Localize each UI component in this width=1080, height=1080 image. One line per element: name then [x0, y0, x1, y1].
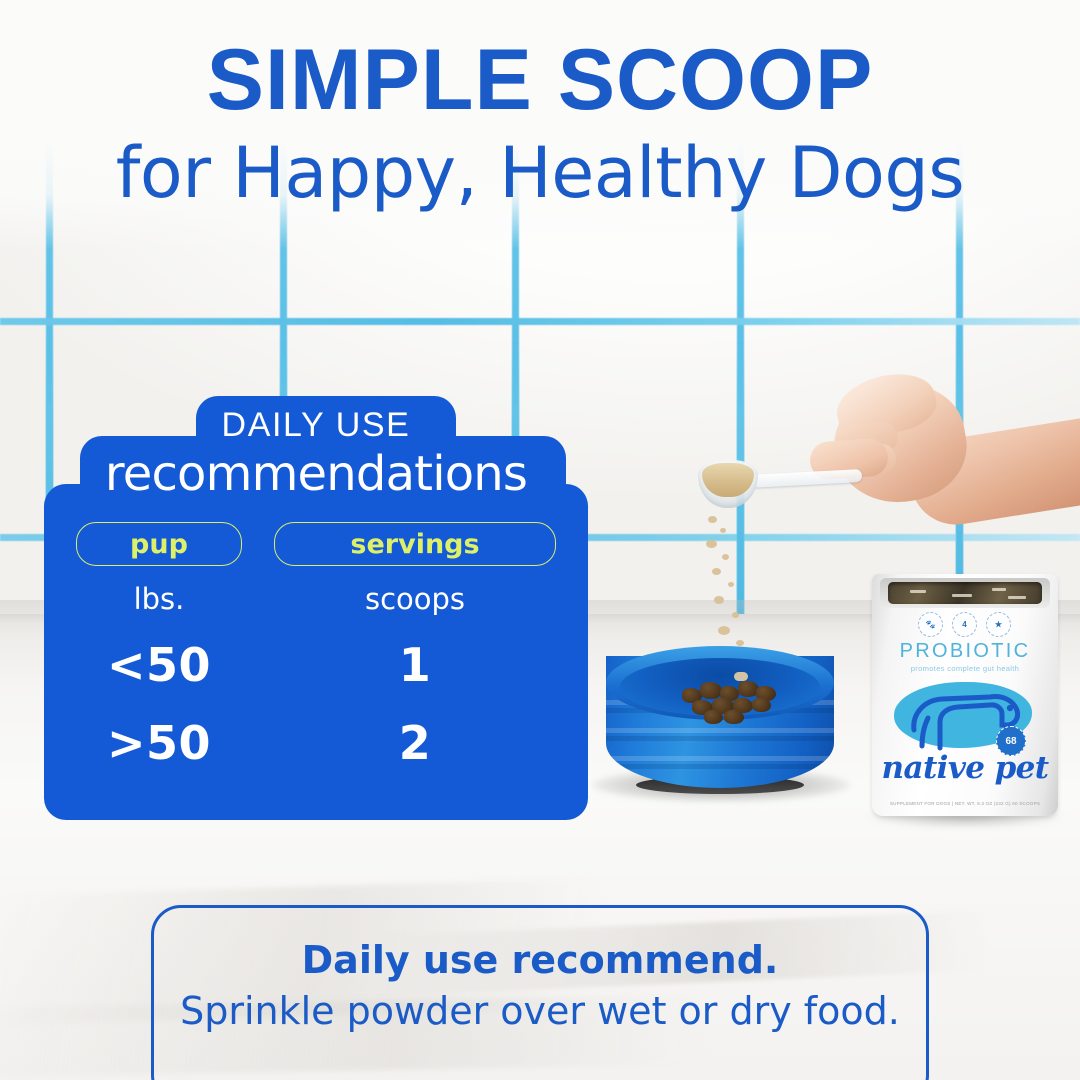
- tin-open-top: [888, 582, 1042, 604]
- brand-name: native pet: [872, 750, 1058, 786]
- card-eyebrow: DAILY USE: [44, 406, 588, 445]
- product-category: PROBIOTIC: [872, 640, 1058, 663]
- pill-servings[interactable]: servings: [274, 522, 556, 566]
- footer-text-block: Daily use recommend. Sprinkle powder ove…: [151, 938, 929, 1035]
- cell-scoops: 2: [274, 716, 556, 770]
- headline-secondary: for Happy, Healthy Dogs: [0, 136, 1080, 212]
- paw-icon: 🐾: [918, 612, 943, 637]
- dog-bowl: [606, 650, 834, 800]
- cell-weight: >50: [76, 716, 242, 770]
- falling-powder: [732, 612, 739, 618]
- falling-powder: [736, 640, 744, 646]
- table-row: <50 1: [76, 626, 556, 704]
- shield-icon: ★: [986, 612, 1011, 637]
- falling-powder: [712, 568, 721, 575]
- falling-powder: [708, 516, 717, 523]
- hand-with-scoop: [792, 368, 1080, 548]
- card-title: recommendations: [44, 446, 588, 502]
- card-pill-row: pup servings: [76, 522, 556, 566]
- column-header-scoops: scoops: [274, 582, 556, 616]
- headline-primary: SIMPLE SCOOP: [0, 38, 1080, 122]
- kibble-piece: [700, 682, 722, 699]
- promo-graphic: SIMPLE SCOOP for Happy, Healthy Dogs: [0, 0, 1080, 1080]
- tin-body: 🐾 4 ★ PROBIOTIC promotes complete gut he…: [872, 574, 1058, 816]
- footer-line-2: Sprinkle powder over wet or dry food.: [151, 988, 929, 1036]
- table-row: >50 2: [76, 704, 556, 782]
- falling-powder: [718, 626, 730, 635]
- falling-powder: [722, 554, 729, 560]
- falling-powder: [706, 540, 717, 548]
- cell-scoops: 1: [274, 638, 556, 692]
- cell-weight: <50: [76, 638, 242, 692]
- grout-line-horizontal: [0, 318, 1080, 325]
- kibble-piece: [704, 710, 723, 724]
- powder-clump: [734, 672, 748, 681]
- headline-block: SIMPLE SCOOP for Happy, Healthy Dogs: [0, 38, 1080, 212]
- footer-line-1: Daily use recommend.: [151, 938, 929, 984]
- dosing-table: lbs. scoops <50 1 >50 2: [76, 582, 556, 782]
- strain-count-badge: 4: [952, 612, 977, 637]
- daily-use-card: DAILY USE recommendations pup servings l…: [44, 396, 588, 820]
- falling-powder: [714, 596, 724, 604]
- kibble-piece: [724, 710, 744, 724]
- column-header-lbs: lbs.: [76, 582, 242, 616]
- pill-pup[interactable]: pup: [76, 522, 242, 566]
- product-tin: 🐾 4 ★ PROBIOTIC promotes complete gut he…: [872, 560, 1058, 820]
- kibble-piece: [752, 698, 771, 712]
- table-header-row: lbs. scoops: [76, 582, 556, 626]
- product-fine-print: SUPPLEMENT FOR DOGS | NET. WT. 8.3 OZ (2…: [872, 801, 1058, 806]
- falling-powder: [720, 528, 726, 533]
- falling-powder: [728, 582, 734, 587]
